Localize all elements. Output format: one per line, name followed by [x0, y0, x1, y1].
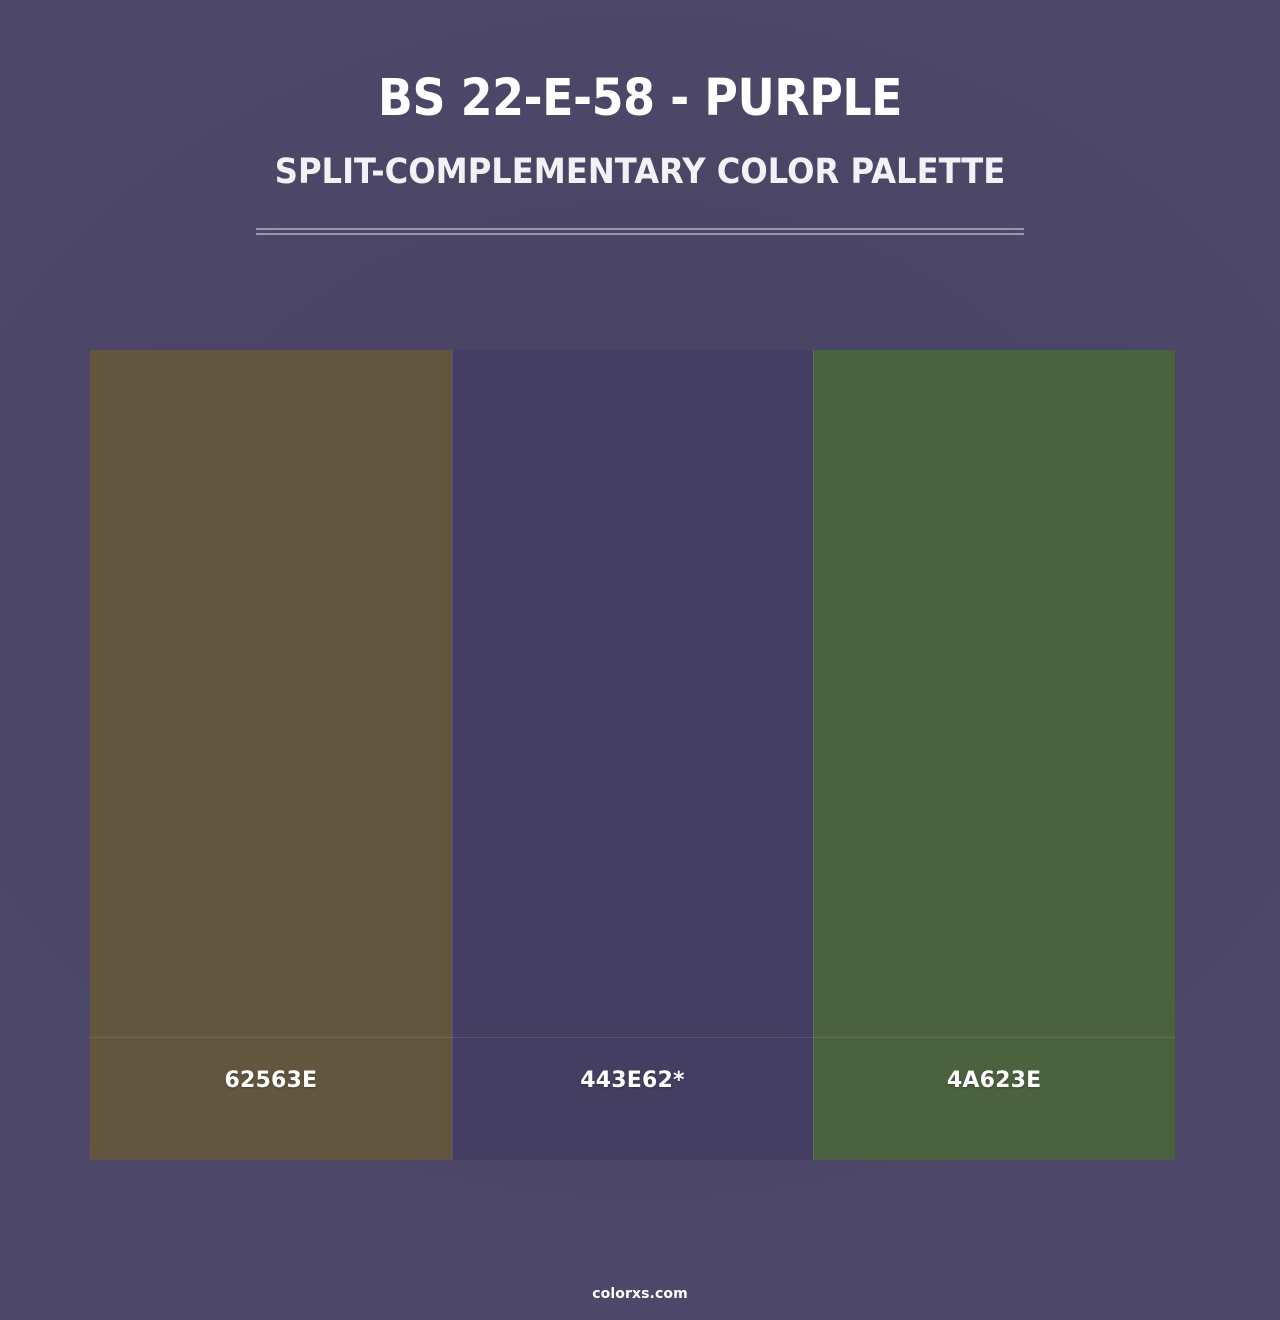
- swatch-color-block[interactable]: [813, 350, 1175, 1037]
- swatch-color-block[interactable]: [90, 350, 452, 1037]
- footer-site-name: colorxs.com: [0, 1286, 1280, 1302]
- page-subtitle: SPLIT-COMPLEMENTARY COLOR PALETTE: [51, 154, 1229, 191]
- swatch-hex-label: 62563E: [224, 1068, 317, 1093]
- swatch-label-band: 62563E: [90, 1037, 452, 1160]
- swatch-hex-label: 443E62*: [580, 1068, 684, 1093]
- divider-line-top: [256, 228, 1024, 230]
- swatch-hex-label: 4A623E: [947, 1068, 1042, 1093]
- swatch-column-3[interactable]: 4A623E: [813, 350, 1175, 1160]
- swatch-column-2[interactable]: 443E62*: [452, 350, 814, 1160]
- swatch-column-1[interactable]: 62563E: [90, 350, 452, 1160]
- swatch-color-block[interactable]: [452, 350, 814, 1037]
- color-palette-page: BS 22-E-58 - PURPLE SPLIT-COMPLEMENTARY …: [0, 0, 1280, 1320]
- page-title: BS 22-E-58 - PURPLE: [64, 72, 1216, 126]
- swatch-label-band: 4A623E: [813, 1037, 1175, 1160]
- header-divider: [256, 228, 1024, 235]
- palette-grid: 62563E 443E62* 4A623E: [90, 350, 1175, 1160]
- swatch-label-band: 443E62*: [452, 1037, 814, 1160]
- divider-line-bottom: [256, 233, 1024, 235]
- page-header: BS 22-E-58 - PURPLE SPLIT-COMPLEMENTARY …: [0, 0, 1280, 190]
